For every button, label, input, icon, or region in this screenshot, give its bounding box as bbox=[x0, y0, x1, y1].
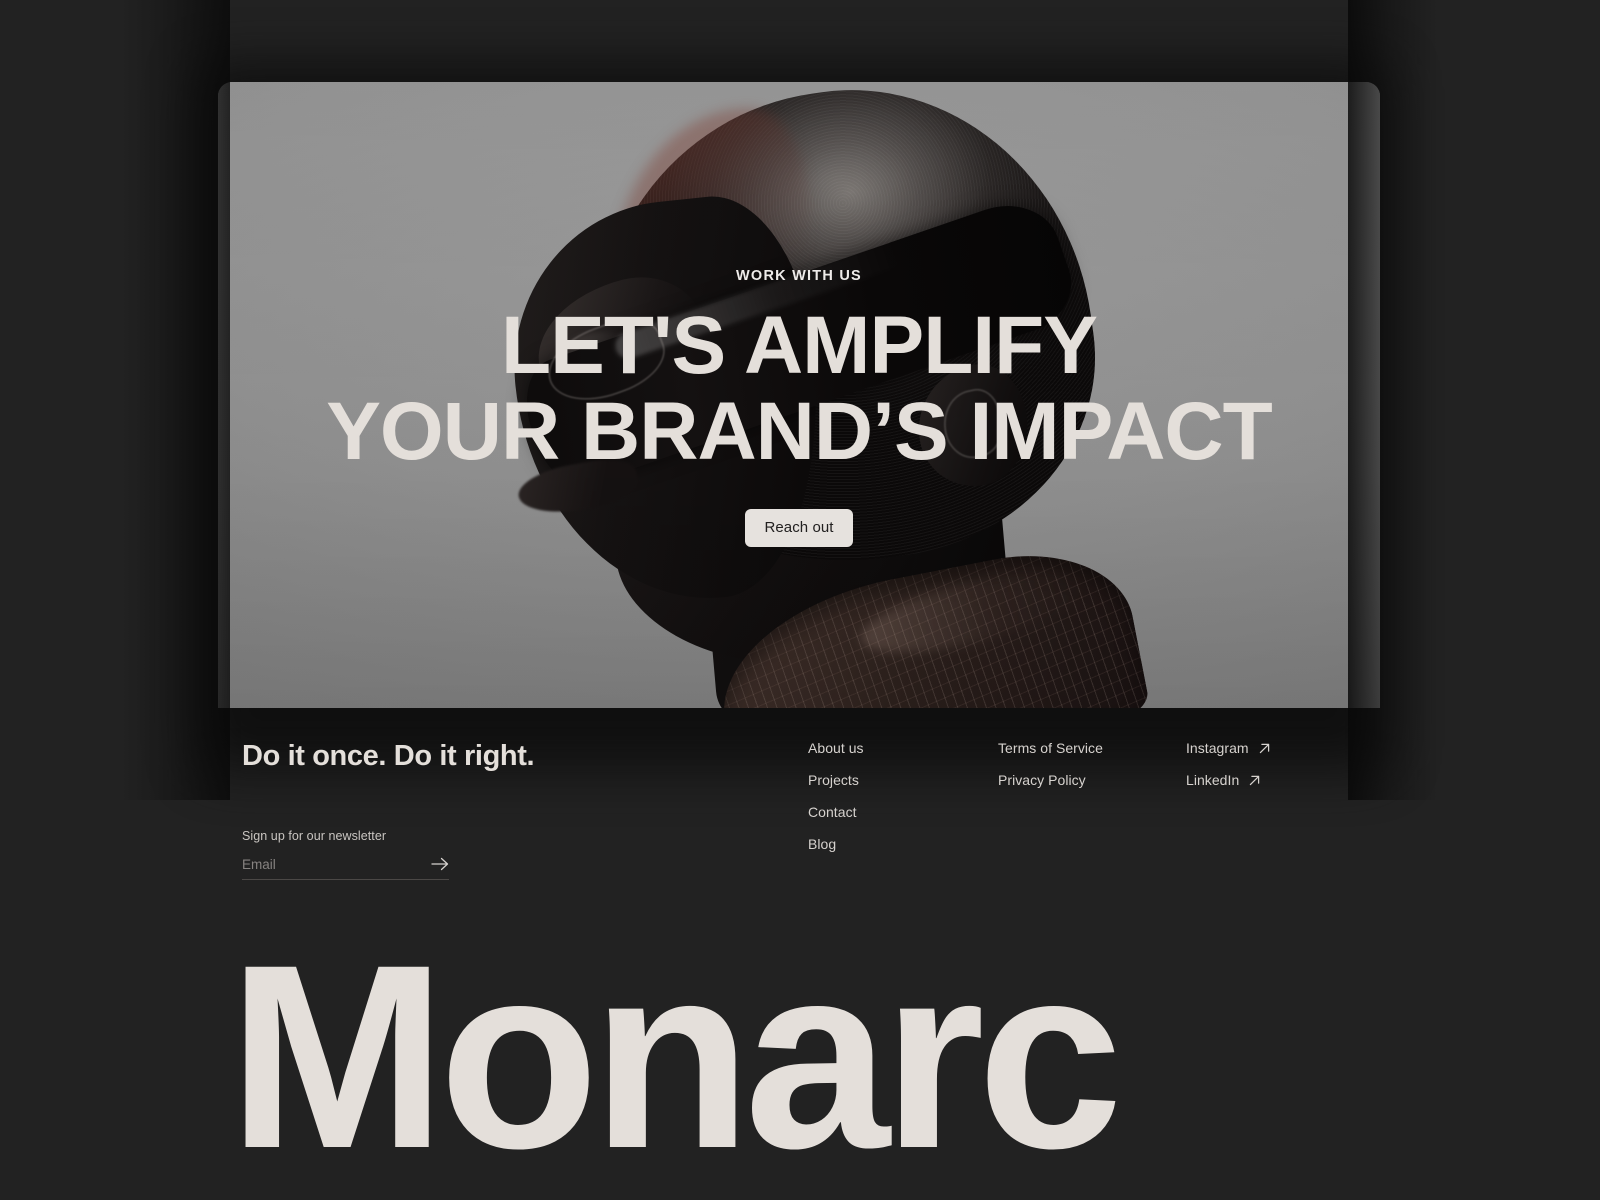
footer-left-column: Do it once. Do it right. Sign up for our… bbox=[218, 726, 778, 926]
footer-column-legal: Terms of Service Privacy Policy bbox=[998, 726, 1186, 926]
hero-headline-line-1: LET'S AMPLIFY bbox=[501, 300, 1097, 391]
arrow-up-right-icon bbox=[1248, 774, 1261, 787]
footer-link-projects[interactable]: Projects bbox=[808, 772, 998, 788]
footer-link-terms-of-service[interactable]: Terms of Service bbox=[998, 740, 1186, 756]
footer-link-contact[interactable]: Contact bbox=[808, 804, 998, 820]
newsletter-form bbox=[242, 857, 449, 880]
footer-column-social: Instagram LinkedIn bbox=[1186, 726, 1366, 926]
footer-link-about-us[interactable]: About us bbox=[808, 740, 998, 756]
footer-link-blog[interactable]: Blog bbox=[808, 836, 998, 852]
hero-section: WORK WITH US LET'S AMPLIFY YOUR BRAND’S … bbox=[218, 82, 1380, 708]
arrow-up-right-icon bbox=[1258, 742, 1271, 755]
footer-link-instagram-label: Instagram bbox=[1186, 740, 1249, 756]
newsletter-email-input[interactable] bbox=[242, 857, 392, 872]
hero-headline: LET'S AMPLIFY YOUR BRAND’S IMPACT bbox=[326, 306, 1272, 471]
hero-copy: WORK WITH US LET'S AMPLIFY YOUR BRAND’S … bbox=[218, 82, 1380, 708]
footer-link-linkedin-label: LinkedIn bbox=[1186, 772, 1239, 788]
newsletter-label: Sign up for our newsletter bbox=[242, 829, 778, 843]
hero-headline-line-2: YOUR BRAND’S IMPACT bbox=[326, 392, 1272, 472]
site-footer: Do it once. Do it right. Sign up for our… bbox=[218, 726, 1380, 926]
hero-eyebrow: WORK WITH US bbox=[736, 268, 862, 284]
newsletter-submit-button[interactable] bbox=[431, 857, 449, 872]
page-root: WORK WITH US LET'S AMPLIFY YOUR BRAND’S … bbox=[0, 0, 1600, 1200]
footer-link-columns: About us Projects Contact Blog Terms of … bbox=[778, 726, 1380, 926]
reach-out-button[interactable]: Reach out bbox=[745, 509, 852, 547]
footer-link-instagram[interactable]: Instagram bbox=[1186, 740, 1366, 756]
brand-wordmark: Monarc bbox=[228, 944, 1600, 1169]
footer-link-linkedin[interactable]: LinkedIn bbox=[1186, 772, 1366, 788]
footer-column-site: About us Projects Contact Blog bbox=[808, 726, 998, 926]
arrow-right-icon bbox=[431, 857, 449, 871]
footer-link-privacy-policy[interactable]: Privacy Policy bbox=[998, 772, 1186, 788]
footer-tagline: Do it once. Do it right. bbox=[242, 740, 778, 773]
